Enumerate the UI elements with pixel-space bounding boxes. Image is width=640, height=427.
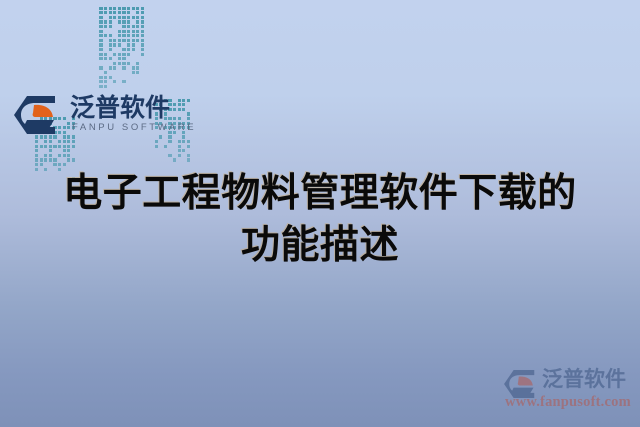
slide-canvas: 泛普软件 FANPU SOFTWARE 电子工程物料管理软件下载的 功能描述 泛… xyxy=(0,0,640,427)
fanpu-logo-mark-icon xyxy=(14,96,60,134)
brand-name-cn: 泛普软件 xyxy=(70,94,170,122)
brand-name-en: FANPU SOFTWARE xyxy=(72,122,196,133)
page-title-line-2: 功能描述 xyxy=(0,220,640,272)
pixel-skyline-graphic xyxy=(35,2,165,94)
page-title-line-1: 电子工程物料管理软件下载的 xyxy=(0,168,640,220)
page-title: 电子工程物料管理软件下载的 功能描述 xyxy=(0,168,640,272)
watermark-brand-name: 泛普软件 xyxy=(542,366,626,392)
watermark-url: www.fanpusoft.com xyxy=(505,394,631,411)
brand-logo: 泛普软件 FANPU SOFTWARE xyxy=(14,94,174,138)
watermark: 泛普软件 www.fanpusoft.com xyxy=(500,366,640,418)
